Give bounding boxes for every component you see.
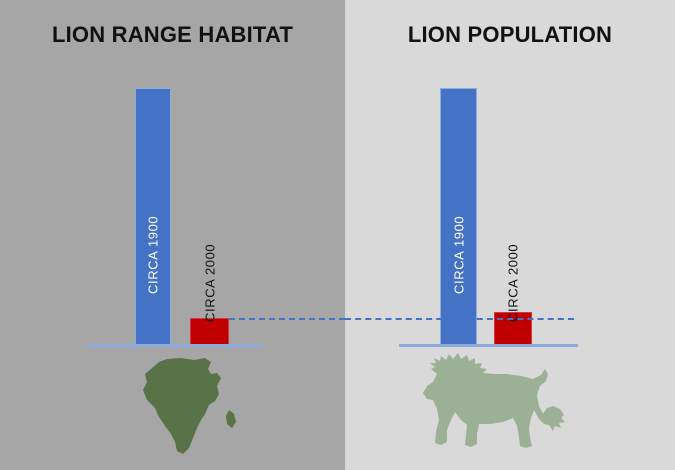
bar-label-left-circa-1900: CIRCA 1900 [146, 216, 161, 294]
bar-left-circa-2000: CIRCA 2000 [190, 318, 229, 346]
africa-map-icon [137, 356, 253, 460]
lion-icon [403, 352, 573, 462]
panel-title-right: LION POPULATION [345, 22, 675, 48]
baseline-left [86, 344, 262, 347]
reference-line-right [345, 318, 574, 320]
baseline-right [399, 344, 578, 347]
bar-label-left-circa-2000: CIRCA 2000 [202, 244, 217, 322]
infographic-canvas: LION RANGE HABITAT CIRCA 1900 CIRCA 2000… [0, 0, 675, 470]
bar-label-right-circa-1900: CIRCA 1900 [451, 216, 466, 294]
bar-label-right-circa-2000: CIRCA 2000 [506, 244, 521, 322]
panel-title-left: LION RANGE HABITAT [0, 22, 345, 48]
bar-right-circa-1900: CIRCA 1900 [440, 88, 477, 346]
reference-line-left [229, 318, 345, 320]
bar-left-circa-1900: CIRCA 1900 [135, 88, 171, 346]
panel-lion-range-habitat: LION RANGE HABITAT CIRCA 1900 CIRCA 2000 [0, 0, 345, 470]
